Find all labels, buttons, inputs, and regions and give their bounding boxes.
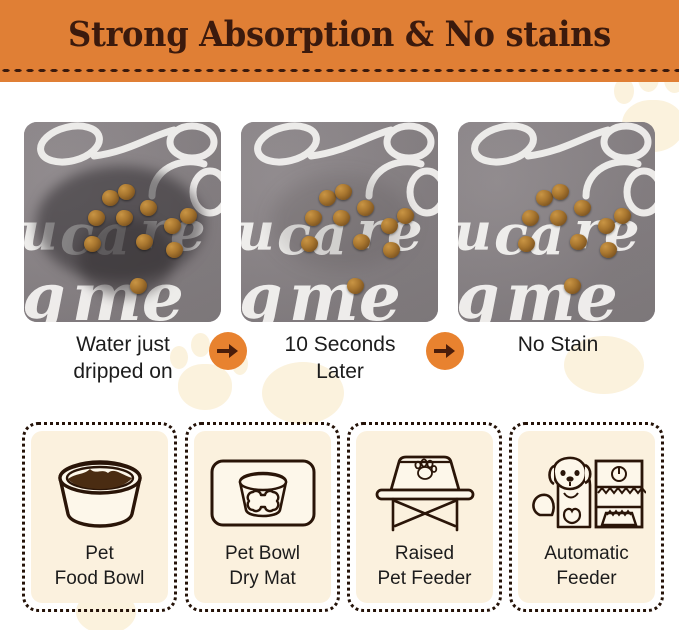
caption-line-1: No Stain	[443, 331, 673, 358]
card-label-line-2: Dry Mat	[225, 566, 300, 591]
card-icon-wrap	[528, 447, 646, 539]
pet-bowl-dry-mat-icon	[208, 456, 318, 530]
demo-caption-3: No Stain	[443, 331, 673, 358]
header-banner: Strong Absorption & No stains	[0, 0, 679, 82]
card-icon-wrap	[369, 447, 481, 539]
card-icon-wrap	[46, 447, 154, 539]
caption-line-1: Water just	[8, 331, 238, 358]
svg-text:me: me	[506, 258, 618, 322]
raised-pet-feeder-icon	[369, 452, 481, 534]
svg-text:u: u	[458, 202, 492, 263]
absorption-demo-row: u ca r e g me	[0, 122, 679, 322]
pet-food-bowl-icon	[46, 456, 154, 530]
caption-line-1: 10 Seconds	[225, 331, 455, 358]
card-label: Automatic Feeder	[544, 541, 628, 591]
dotted-divider	[0, 68, 679, 73]
use-case-card-raised-pet-feeder[interactable]: Raised Pet Feeder	[347, 422, 502, 612]
card-label-line-2: Pet Feeder	[378, 566, 472, 591]
card-label-line-1: Pet Bowl	[225, 541, 300, 566]
svg-text:g: g	[458, 260, 499, 322]
svg-text:g: g	[24, 260, 65, 322]
use-case-card-pet-food-bowl[interactable]: Pet Food Bowl	[22, 422, 177, 612]
water-stain-secondary	[78, 218, 174, 298]
demo-photo-2: u ca r e g me	[241, 122, 438, 322]
card-label-line-2: Feeder	[544, 566, 628, 591]
card-label: Pet Food Bowl	[55, 541, 145, 591]
caption-line-2: dripped on	[8, 358, 238, 385]
card-label: Raised Pet Feeder	[378, 541, 472, 591]
card-icon-wrap	[208, 447, 318, 539]
use-case-cards: Pet Food Bowl Pet Bowl Dry Mat	[0, 422, 679, 614]
card-label-line-1: Raised	[378, 541, 472, 566]
automatic-feeder-icon	[528, 453, 646, 533]
card-label-line-2: Food Bowl	[55, 566, 145, 591]
demo-caption-1: Water just dripped on	[8, 331, 238, 385]
demo-photo-3: u ca r e g me	[458, 122, 655, 322]
infographic-page: Strong Absorption & No stains u ca r e	[0, 0, 679, 630]
caption-line-2: Later	[225, 358, 455, 385]
card-label-line-1: Automatic	[544, 541, 628, 566]
demo-photo-1: u ca r e g me	[24, 122, 221, 322]
use-case-card-automatic-feeder[interactable]: Automatic Feeder	[509, 422, 664, 612]
svg-text:u: u	[241, 202, 275, 263]
card-label-line-1: Pet	[55, 541, 145, 566]
use-case-card-pet-bowl-dry-mat[interactable]: Pet Bowl Dry Mat	[185, 422, 340, 612]
svg-text:g: g	[241, 260, 282, 322]
page-title: Strong Absorption & No stains	[27, 14, 652, 56]
card-label: Pet Bowl Dry Mat	[225, 541, 300, 591]
demo-caption-2: 10 Seconds Later	[225, 331, 455, 385]
